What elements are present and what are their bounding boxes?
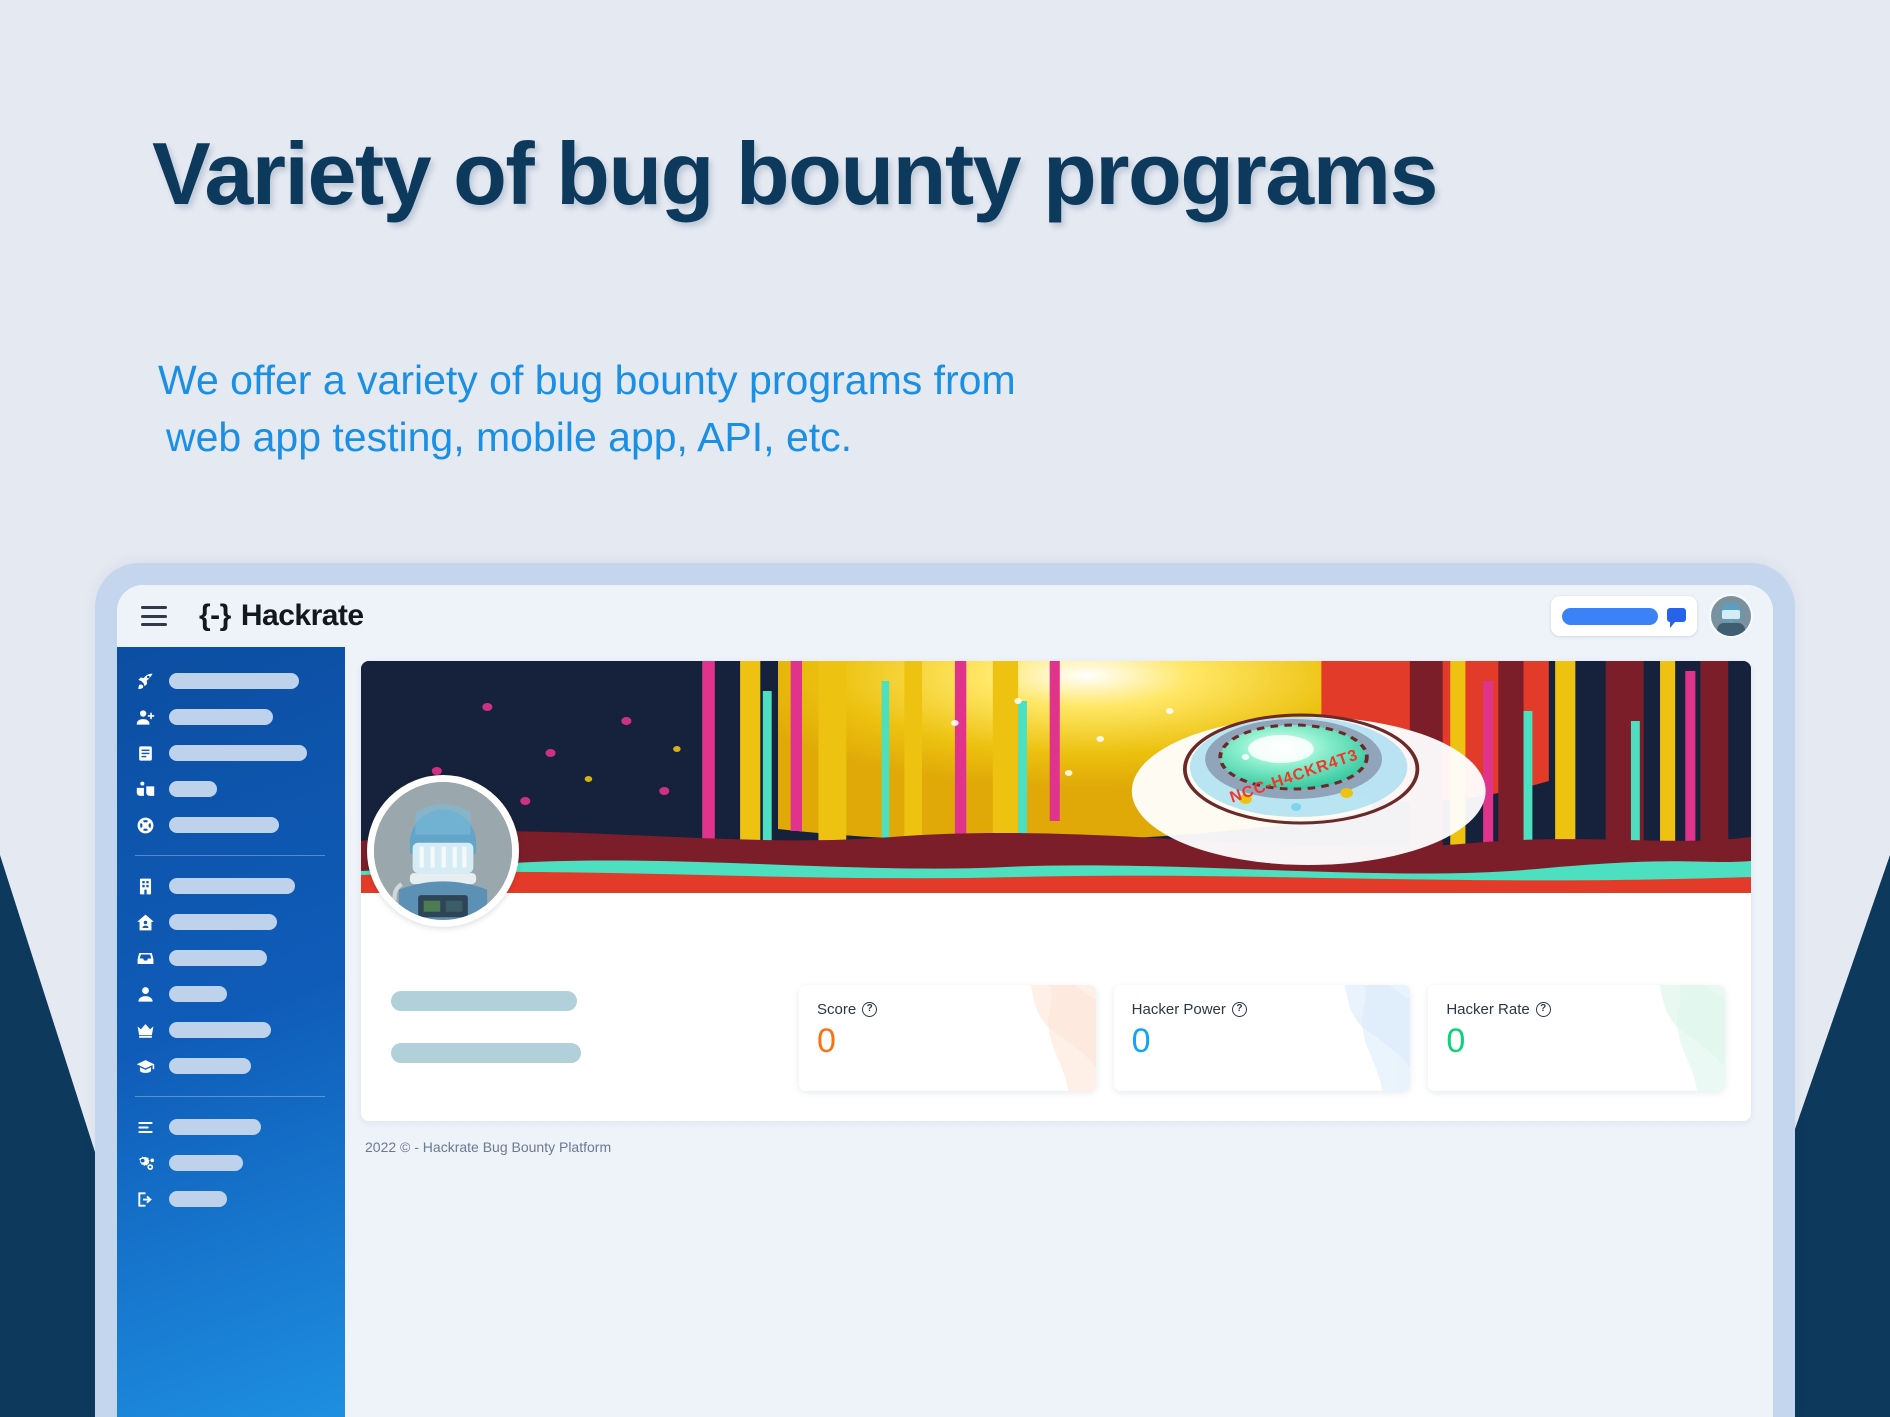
sidebar-item-label [169, 1058, 251, 1074]
graduation-cap-icon [135, 1056, 155, 1076]
sidebar-item-label [169, 1022, 271, 1038]
life-ring-icon [135, 815, 155, 835]
question-circle-icon[interactable]: ? [862, 1002, 877, 1017]
hamburger-icon[interactable] [141, 606, 167, 626]
brand-name: Hackrate [241, 599, 364, 633]
footer-copyright: 2022 © - Hackrate Bug Bounty Platform [361, 1139, 1751, 1155]
banner-artwork [361, 661, 1751, 893]
profile-avatar[interactable] [367, 775, 519, 927]
stat-card-score[interactable]: Score ? 0 [799, 985, 1096, 1091]
book-reader-icon [135, 743, 155, 763]
sidebar-group-3 [117, 1109, 345, 1217]
sidebar-item-label [169, 709, 273, 725]
cogs-icon [135, 1153, 155, 1173]
stat-label-text: Hacker Rate [1446, 1001, 1529, 1018]
chat-button[interactable] [1551, 596, 1697, 636]
sidebar-item-label [169, 673, 299, 689]
sidebar-item-user[interactable] [117, 976, 345, 1012]
stats-row: Score ? 0 Hacker Power [799, 979, 1725, 1091]
slide-root: Variety of bug bounty programs We offer … [0, 0, 1890, 1417]
stat-value: 0 [1446, 1024, 1707, 1058]
bars-list-icon [135, 1117, 155, 1137]
inbox-icon [135, 948, 155, 968]
sign-out-icon [135, 1189, 155, 1209]
sidebar-item-settings[interactable] [117, 1145, 345, 1181]
avatar[interactable] [1711, 596, 1751, 636]
sidebar-item-crown[interactable] [117, 1012, 345, 1048]
profile-name-placeholder [391, 991, 577, 1011]
profile-card: NCC-H4CKR4T3 [361, 661, 1751, 1121]
stat-label-text: Hacker Power [1132, 1001, 1226, 1018]
stat-value: 0 [817, 1024, 1078, 1058]
topbar-actions [1551, 596, 1751, 636]
sidebar-item-building[interactable] [117, 868, 345, 904]
astronaut-avatar-large [374, 782, 512, 920]
sidebar-group-2 [117, 868, 345, 1084]
open-book-icon [135, 779, 155, 799]
profile-banner: NCC-H4CKR4T3 [361, 661, 1751, 893]
stat-label: Hacker Rate ? [1446, 1001, 1707, 1018]
sidebar-item-label [169, 914, 277, 930]
home-user-icon [135, 912, 155, 932]
sidebar-item-life-ring[interactable] [117, 807, 345, 843]
chat-bubble-icon [1667, 608, 1686, 624]
device-frame: {-} Hackrate [95, 563, 1795, 1417]
sidebar-group-1 [117, 663, 345, 843]
sidebar-item-label [169, 1191, 227, 1207]
stat-value: 0 [1132, 1024, 1393, 1058]
stat-label: Score ? [817, 1001, 1078, 1018]
stat-label-text: Score [817, 1001, 856, 1018]
building-icon [135, 876, 155, 896]
sidebar-divider-1 [135, 855, 325, 856]
sidebar-item-label [169, 1119, 261, 1135]
profile-body: Score ? 0 Hacker Power [361, 893, 1751, 1121]
profile-meta-placeholder [391, 1043, 581, 1063]
sidebar-item-label [169, 986, 227, 1002]
sidebar-item-book-reader[interactable] [117, 735, 345, 771]
sidebar-item-inbox[interactable] [117, 940, 345, 976]
main-content: NCC-H4CKR4T3 [345, 647, 1773, 1417]
stat-card-hacker-rate[interactable]: Hacker Rate ? 0 [1428, 985, 1725, 1091]
profile-info [387, 979, 777, 1091]
sidebar-divider-2 [135, 1096, 325, 1097]
app-screen: {-} Hackrate [117, 585, 1773, 1417]
subtitle-line-2: web app testing, mobile app, API, etc. [158, 409, 1016, 466]
crown-icon [135, 1020, 155, 1040]
user-plus-icon [135, 707, 155, 727]
sidebar-item-logout[interactable] [117, 1181, 345, 1217]
app-topbar: {-} Hackrate [117, 585, 1773, 647]
sidebar-item-label [169, 1155, 243, 1171]
sidebar [117, 647, 345, 1417]
sidebar-item-label [169, 878, 295, 894]
sidebar-item-label [169, 745, 307, 761]
sidebar-item-home-user[interactable] [117, 904, 345, 940]
sidebar-item-user-plus[interactable] [117, 699, 345, 735]
page-subtitle: We offer a variety of bug bounty program… [158, 352, 1016, 465]
sidebar-item-label [169, 781, 217, 797]
sidebar-item-label [169, 950, 267, 966]
rocket-icon [135, 671, 155, 691]
stat-card-hacker-power[interactable]: Hacker Power ? 0 [1114, 985, 1411, 1091]
page-title: Variety of bug bounty programs [152, 128, 1437, 220]
question-circle-icon[interactable]: ? [1536, 1002, 1551, 1017]
sidebar-item-rocket[interactable] [117, 663, 345, 699]
sidebar-item-open-book[interactable] [117, 771, 345, 807]
user-icon [135, 984, 155, 1004]
question-circle-icon[interactable]: ? [1232, 1002, 1247, 1017]
sidebar-item-graduation-cap[interactable] [117, 1048, 345, 1084]
brand-braces: {-} [199, 599, 231, 633]
subtitle-line-1: We offer a variety of bug bounty program… [158, 357, 1016, 403]
sidebar-item-list[interactable] [117, 1109, 345, 1145]
sidebar-item-label [169, 817, 279, 833]
chat-label-placeholder [1562, 608, 1658, 625]
stat-label: Hacker Power ? [1132, 1001, 1393, 1018]
brand-logo[interactable]: {-} Hackrate [199, 599, 364, 633]
